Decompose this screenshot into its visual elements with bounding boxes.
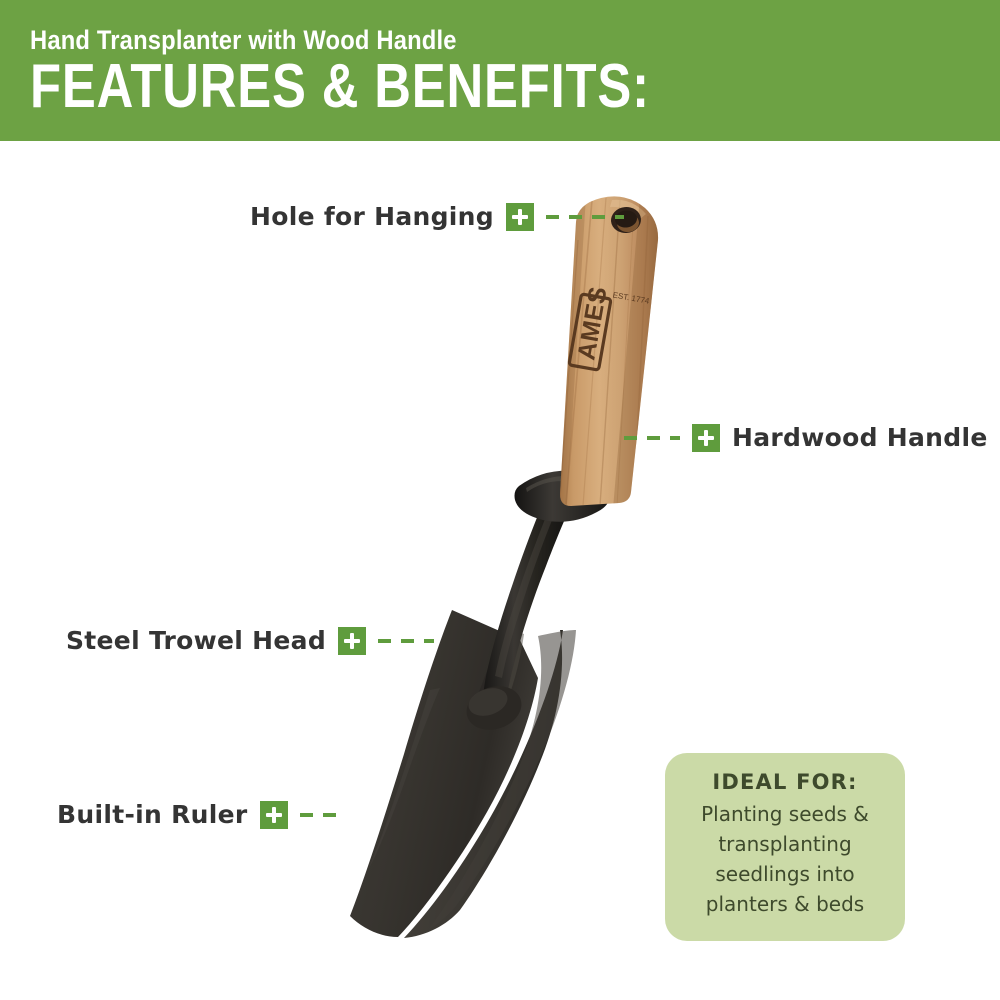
plus-icon	[260, 801, 288, 829]
svg-text:AMES: AMES	[572, 284, 612, 362]
handle-ferrule	[515, 471, 610, 522]
svg-text:EST. 1774: EST. 1774	[612, 290, 650, 305]
brand-logo: AMES EST. 1774	[569, 284, 651, 377]
plus-icon	[692, 424, 720, 452]
callout-hole-for-hanging[interactable]: Hole for Hanging	[250, 202, 624, 231]
plus-icon	[506, 203, 534, 231]
connector-dashed-line	[300, 813, 345, 817]
ideal-for-card: IDEAL FOR: Planting seeds & transplantin…	[665, 753, 905, 941]
ideal-for-body: Planting seeds & transplanting seedlings…	[675, 799, 895, 919]
connector-dashed-line	[546, 215, 624, 219]
wood-handle: AMES EST. 1774	[550, 196, 670, 520]
callout-hardwood-handle[interactable]: Hardwood Handle	[624, 423, 988, 452]
infographic-page: Hand Transplanter with Wood Handle FEATU…	[0, 0, 1000, 1000]
connector-dashed-line	[624, 436, 680, 440]
callout-label: Hole for Hanging	[250, 202, 494, 231]
ideal-for-title: IDEAL FOR:	[675, 769, 895, 795]
ideal-for-line: transplanting	[675, 829, 895, 859]
callout-label: Hardwood Handle	[732, 423, 988, 452]
callout-label: Steel Trowel Head	[66, 626, 326, 655]
callout-steel-trowel-head[interactable]: Steel Trowel Head	[66, 626, 434, 655]
plus-icon	[338, 627, 366, 655]
page-title: FEATURES & BENEFITS:	[30, 56, 650, 118]
connector-dashed-line	[378, 639, 434, 643]
callout-label: Built-in Ruler	[57, 800, 248, 829]
ideal-for-line: Planting seeds &	[675, 799, 895, 829]
trowel-blade	[350, 610, 576, 938]
ideal-for-line: seedlings into	[675, 859, 895, 889]
ideal-for-line: planters & beds	[675, 889, 895, 919]
trowel-shaft	[461, 498, 572, 737]
header-banner: Hand Transplanter with Wood Handle FEATU…	[0, 0, 1000, 141]
callout-built-in-ruler[interactable]: Built-in Ruler	[57, 800, 345, 829]
